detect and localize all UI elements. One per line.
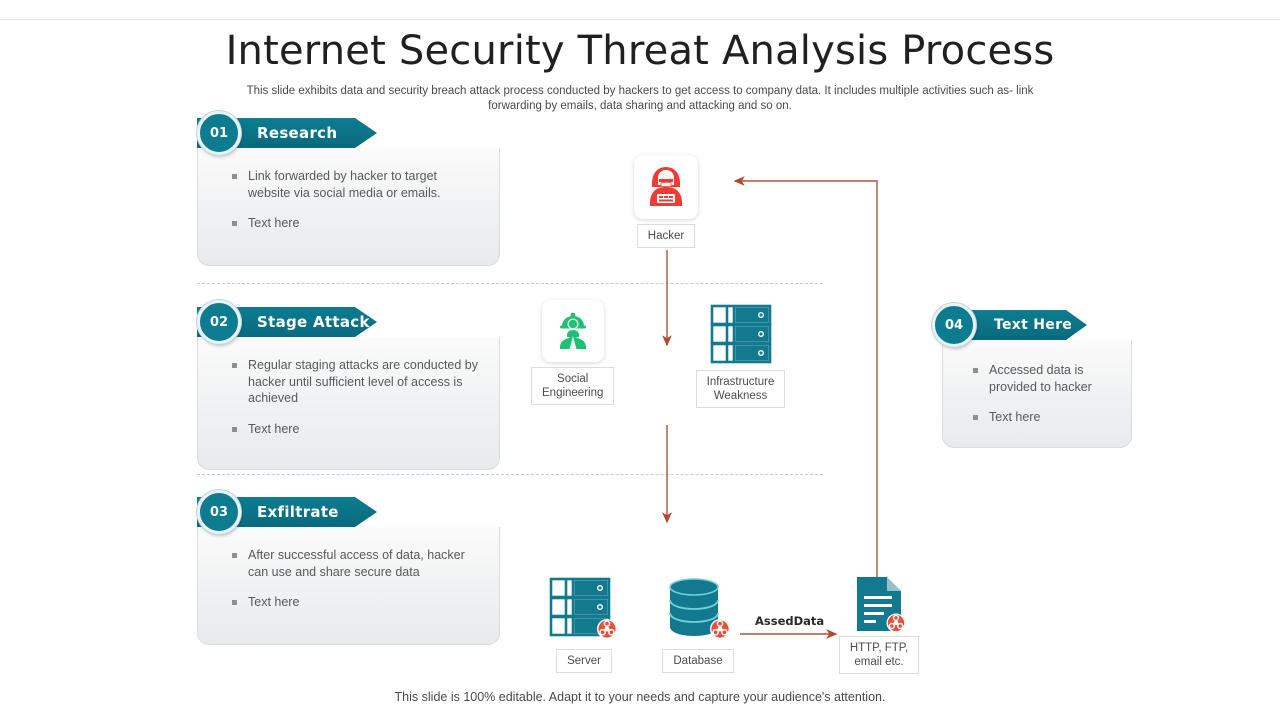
node-label-server: Server [556,649,612,673]
step-title-03: Exfiltrate [257,503,339,521]
step-bullet-list-02: Regular staging attacks are conducted by… [232,357,481,437]
top-divider-rule [0,19,1280,20]
page-title: Internet Security Threat Analysis Proces… [0,28,1280,74]
node-label-database: Database [662,649,733,673]
server-rack-icon [683,300,798,368]
step-block-01[interactable]: Research 01 Link forwarded by hacker to … [197,118,500,266]
database-infected-icon [660,574,736,644]
list-item: Regular staging attacks are conducted by… [232,357,481,407]
step-number-badge-04: 04 [932,303,976,347]
list-item: Text here [973,409,1119,426]
list-item: Text here [232,421,481,438]
step-bullet-list-01: Link forwarded by hacker to target websi… [232,168,481,232]
hacker-icon-glyph [646,165,686,209]
list-item: Text here [232,215,481,232]
step-bullet-list-04: Accessed data is provided to hacker Text… [973,362,1119,426]
node-social-engineering[interactable]: Social Engineering [531,300,614,405]
step-block-03[interactable]: Exfiltrate 03 After successful access of… [197,497,500,645]
step-number-badge-01: 01 [197,111,241,155]
hacker-icon [634,155,698,219]
node-infrastructure-weakness[interactable]: Infrastructure Weakness [683,300,798,408]
node-label-social-engineering: Social Engineering [531,367,614,405]
node-label-infrastructure-weakness: Infrastructure Weakness [696,370,786,408]
node-label-transfer-protocol: HTTP, FTP, email etc. [839,636,919,674]
server-rack-infected-icon [546,574,622,644]
node-label-hacker: Hacker [637,224,695,248]
page-subtitle: This slide exhibits data and security br… [220,84,1060,114]
server-rack-infected-icon-glyph [548,575,620,643]
step-block-04[interactable]: Text Here 04 Accessed data is provided t… [942,310,1132,448]
step-block-02[interactable]: Stage Attack 02 Regular staging attacks … [197,307,500,470]
step-bullet-list-03: After successful access of data, hacker … [232,547,481,611]
step-panel-01: Link forwarded by hacker to target websi… [197,148,500,266]
section-divider-1 [197,283,823,284]
step-title-04: Text Here [994,317,1072,333]
list-item: Accessed data is provided to hacker [973,362,1119,395]
step-panel-02: Regular staging attacks are conducted by… [197,337,500,470]
server-rack-icon-glyph [707,300,775,368]
engineer-icon [542,300,604,362]
node-database[interactable]: Database [660,574,736,673]
node-hacker[interactable]: Hacker [634,155,698,248]
slide-canvas: Internet Security Threat Analysis Proces… [0,0,1280,720]
biohazard-badge [887,614,906,633]
document-infected-icon [835,574,923,636]
list-item: Text here [232,594,481,611]
biohazard-badge [597,619,617,639]
step-number-badge-02: 02 [197,300,241,344]
step-number-badge-03: 03 [197,490,241,534]
slide-footer-note: This slide is 100% editable. Adapt it to… [0,690,1280,704]
section-divider-2 [197,474,823,475]
engineer-icon-glyph [553,311,593,351]
document-infected-icon-glyph [851,574,907,636]
step-panel-03: After successful access of data, hacker … [197,527,500,645]
step-panel-04: Accessed data is provided to hacker Text… [942,340,1132,448]
step-title-01: Research [257,124,337,142]
assed-data-label: AssedData [755,614,824,628]
biohazard-badge [710,619,730,639]
list-item: After successful access of data, hacker … [232,547,481,580]
database-infected-icon-glyph [662,575,734,643]
step-title-02: Stage Attack [257,313,370,331]
list-item: Link forwarded by hacker to target websi… [232,168,481,201]
node-transfer-protocol[interactable]: HTTP, FTP, email etc. [835,574,923,674]
node-server[interactable]: Server [546,574,622,673]
